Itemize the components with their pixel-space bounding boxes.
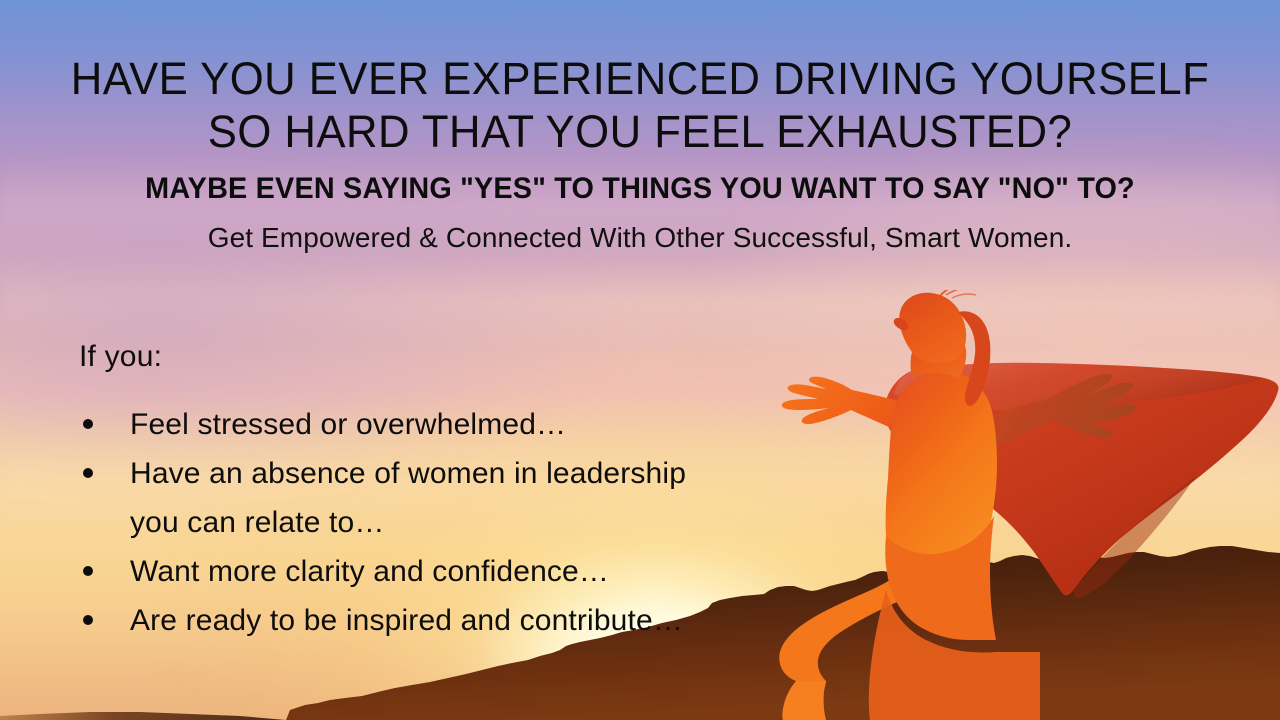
list-item: Have an absence of women in leadership y… xyxy=(75,449,855,547)
subheadline: MAYBE EVEN SAYING "YES" TO THINGS YOU WA… xyxy=(26,172,1255,206)
benefits-list: Feel stressed or overwhelmed… Have an ab… xyxy=(75,400,855,645)
bullet-dot-icon xyxy=(83,468,93,478)
list-item: Want more clarity and confidence… xyxy=(75,547,855,596)
text-layer: HAVE YOU EVER EXPERIENCED DRIVING YOURSE… xyxy=(0,0,1280,720)
tagline: Get Empowered & Connected With Other Suc… xyxy=(0,221,1280,255)
headline: HAVE YOU EVER EXPERIENCED DRIVING YOURSE… xyxy=(19,52,1261,158)
list-item-text-continuation: you can relate to… xyxy=(130,498,855,547)
bullet-dot-icon xyxy=(83,615,93,625)
list-item-text: Feel stressed or overwhelmed… xyxy=(130,408,566,441)
list-item: Are ready to be inspired and contribute… xyxy=(75,596,855,645)
list-item: Feel stressed or overwhelmed… xyxy=(75,400,855,449)
list-item-text: Are ready to be inspired and contribute… xyxy=(130,604,683,637)
bullet-dot-icon xyxy=(83,419,93,429)
headline-line-1: HAVE YOU EVER EXPERIENCED DRIVING YOURSE… xyxy=(19,52,1261,105)
slide-canvas: HAVE YOU EVER EXPERIENCED DRIVING YOURSE… xyxy=(0,0,1280,720)
headline-line-2: SO HARD THAT YOU FEEL EXHAUSTED? xyxy=(19,105,1261,158)
list-intro: If you: xyxy=(79,340,162,374)
bullet-dot-icon xyxy=(83,566,93,576)
list-item-text: Have an absence of women in leadership xyxy=(130,457,686,490)
list-item-text: Want more clarity and confidence… xyxy=(130,555,609,588)
